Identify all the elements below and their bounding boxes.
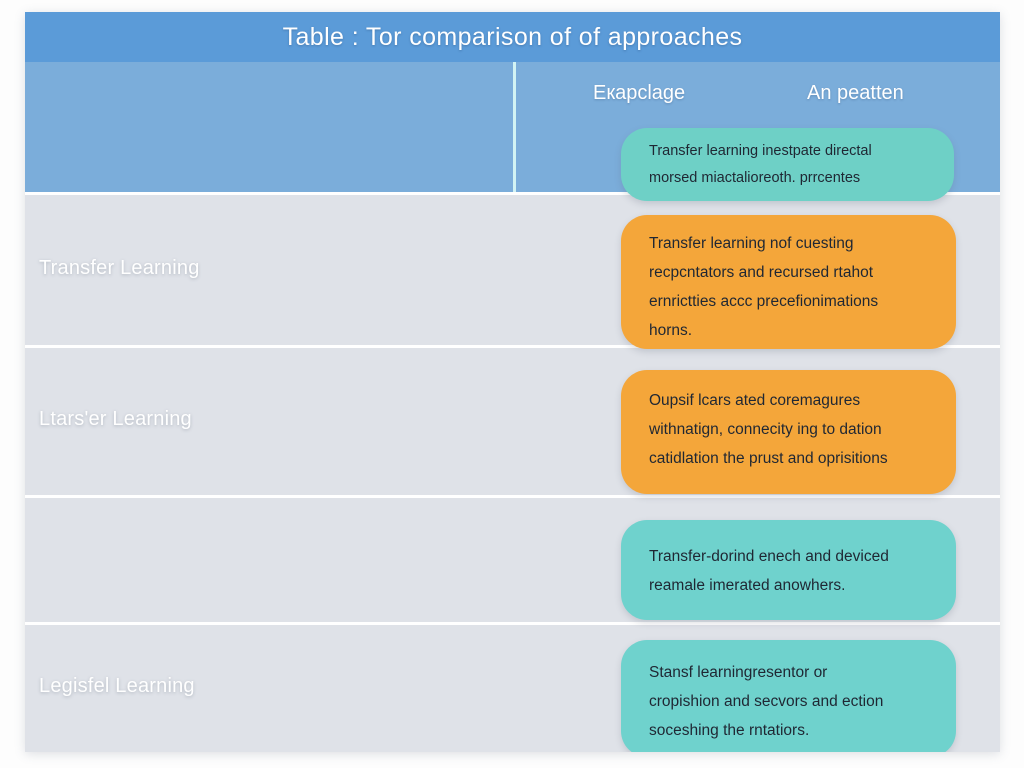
- cell-pill-header: Transfer learning inestpate directal mor…: [621, 128, 954, 201]
- pill-line: Oupsif lcars ated coremagures: [649, 386, 928, 415]
- pill-line: Transfer learning inestpate directal: [649, 138, 926, 165]
- page-title: Table : Tor comparison of of approaches: [283, 23, 743, 52]
- cell-pill-row-2: Oupsif lcars ated coremagures withnatign…: [621, 370, 956, 494]
- column-header-group: Eкapclage An peatten: [513, 76, 1000, 116]
- pill-line: Transfer learning nof cuesting: [649, 229, 928, 258]
- column-header-2: An peatten: [807, 82, 904, 105]
- pill-line: recpcntators and recursed rtahot: [649, 258, 928, 287]
- cell-pill-row-4: Stansf learningresentor or cropishion an…: [621, 640, 956, 752]
- cell-pill-row-1: Transfer learning nof cuesting recpcntat…: [621, 215, 956, 349]
- pill-line: Transfer-dorind enech and deviced: [649, 542, 928, 571]
- pill-line: Stansf learningresentor or: [649, 658, 928, 687]
- pill-line: catidlation the prust and oprisitions: [649, 444, 928, 473]
- row-label-2: Ltars'er Learning: [39, 408, 192, 431]
- row-label-4: Legisfel Learning: [39, 675, 195, 698]
- screenshot-canvas: Table : Tor comparison of of approaches …: [0, 0, 1024, 768]
- pill-line: morsed miactalioreoth. prrcentes: [649, 165, 926, 192]
- pill-line: horns.: [649, 316, 928, 345]
- pill-line: soceshing the rntatiors.: [649, 716, 928, 745]
- comparison-table: Table : Tor comparison of of approaches …: [25, 12, 1000, 752]
- column-header-1: Eкapclage: [593, 82, 685, 105]
- pill-line: reamale imerated anowhers.: [649, 571, 928, 600]
- pill-line: withnatign, connecity ing to dation: [649, 415, 928, 444]
- pill-line: cropishion and secvors and ection: [649, 687, 928, 716]
- pill-line: ernrictties accc precefionimations: [649, 287, 928, 316]
- row-label-1: Transfer Learning: [39, 257, 200, 280]
- column-divider-header: [513, 62, 516, 192]
- table-title-bar: Table : Tor comparison of of approaches: [25, 12, 1000, 62]
- cell-pill-row-3: Transfer-dorind enech and deviced reamal…: [621, 520, 956, 620]
